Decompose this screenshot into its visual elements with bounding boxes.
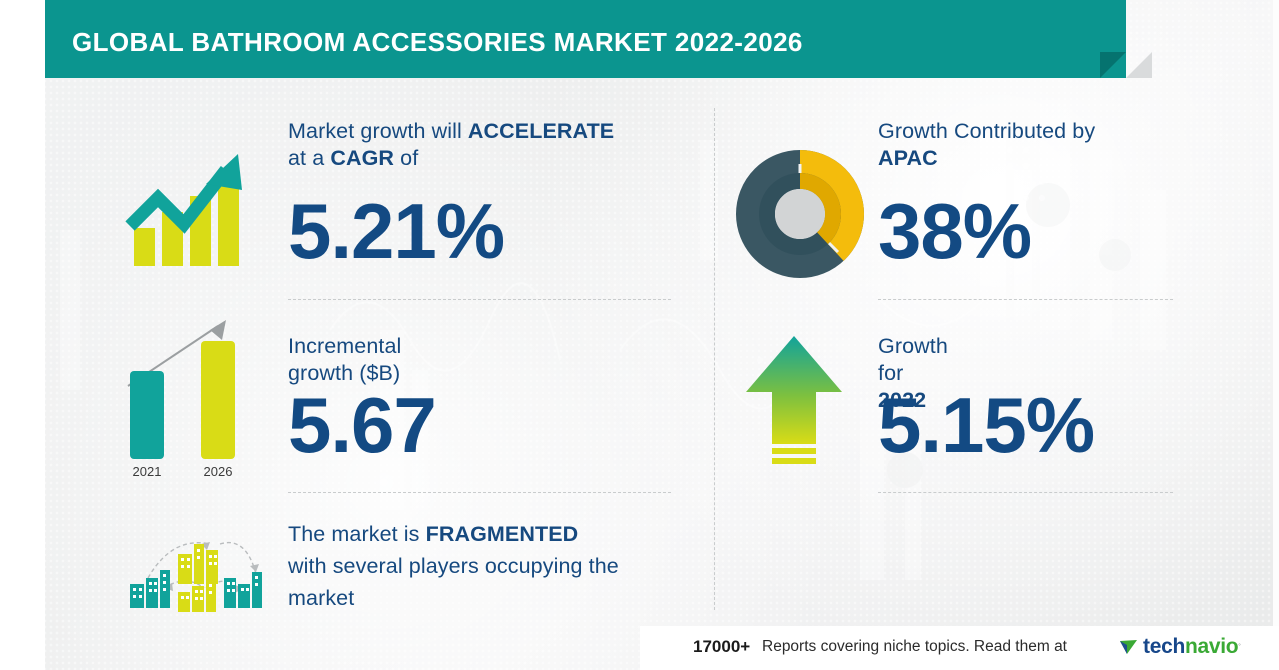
cagr-value: 5.21% bbox=[288, 192, 504, 270]
logo-trademark: ˚ bbox=[1238, 643, 1241, 652]
fragmented-strong: FRAGMENTED bbox=[426, 522, 579, 546]
apac-label: Growth Contributed by APAC bbox=[878, 118, 1178, 172]
infographic-canvas: GLOBAL BATHROOM ACCESSORIES MARKET 2022-… bbox=[0, 0, 1279, 670]
growth2022-label-pre: Growth for bbox=[878, 334, 948, 385]
cagr-label-line2-post: of bbox=[394, 146, 418, 170]
column-divider bbox=[714, 108, 715, 610]
divider-left-1 bbox=[288, 299, 671, 300]
incremental-value: 5.67 bbox=[288, 386, 436, 464]
cagr-label-line2-pre: at a bbox=[288, 146, 330, 170]
corner-fold-icon bbox=[1100, 52, 1126, 78]
footer-text: Reports covering niche topics. Read them… bbox=[762, 638, 1067, 656]
cagr-label: Market growth will ACCELERATE at a CAGR … bbox=[288, 118, 688, 172]
two-bars-arrow-icon: 2021 2026 bbox=[118, 306, 258, 481]
donut-chart-icon bbox=[734, 148, 866, 280]
growth2022-value: 5.15% bbox=[878, 386, 1094, 464]
bar-label-2021: 2021 bbox=[133, 464, 162, 479]
corner-fold-shadow bbox=[1126, 52, 1152, 78]
fragmented-line1-pre: The market is bbox=[288, 522, 426, 546]
technavio-mark-icon bbox=[1118, 636, 1140, 658]
cagr-label-accelerate: ACCELERATE bbox=[468, 119, 614, 143]
cagr-label-cagr: CAGR bbox=[330, 146, 394, 170]
up-arrow-icon bbox=[742, 330, 852, 480]
footer-report-count: 17000+ bbox=[693, 637, 750, 657]
divider-left-2 bbox=[288, 492, 671, 493]
apac-value: 38% bbox=[878, 192, 1031, 270]
page-title: GLOBAL BATHROOM ACCESSORIES MARKET 2022-… bbox=[72, 27, 803, 58]
fragmented-line2: with several players occupying the bbox=[288, 554, 619, 578]
divider-right-1 bbox=[878, 299, 1173, 300]
logo-text-tech: tech bbox=[1143, 635, 1185, 659]
apac-label-region: APAC bbox=[878, 146, 938, 170]
right-page-margin bbox=[1273, 0, 1279, 670]
technavio-logo[interactable]: technavio˚ bbox=[1118, 634, 1241, 660]
divider-right-2 bbox=[878, 492, 1173, 493]
incremental-label: Incremental growth ($B) bbox=[288, 333, 401, 387]
cagr-label-line1-pre: Market growth will bbox=[288, 119, 468, 143]
footer-bar: 17000+ Reports covering niche topics. Re… bbox=[640, 626, 1279, 670]
logo-text-navio: navio bbox=[1185, 635, 1238, 659]
left-page-margin bbox=[0, 0, 45, 670]
fragmented-line3: market bbox=[288, 586, 354, 610]
city-clusters-icon bbox=[120, 522, 272, 614]
fragmented-label: The market is FRAGMENTED with several pl… bbox=[288, 518, 688, 614]
apac-label-line1: Growth Contributed by bbox=[878, 119, 1095, 143]
growth-arrow-bars-icon bbox=[122, 140, 250, 270]
bar-label-2026: 2026 bbox=[204, 464, 233, 479]
header-banner: GLOBAL BATHROOM ACCESSORIES MARKET 2022-… bbox=[45, 0, 1126, 78]
